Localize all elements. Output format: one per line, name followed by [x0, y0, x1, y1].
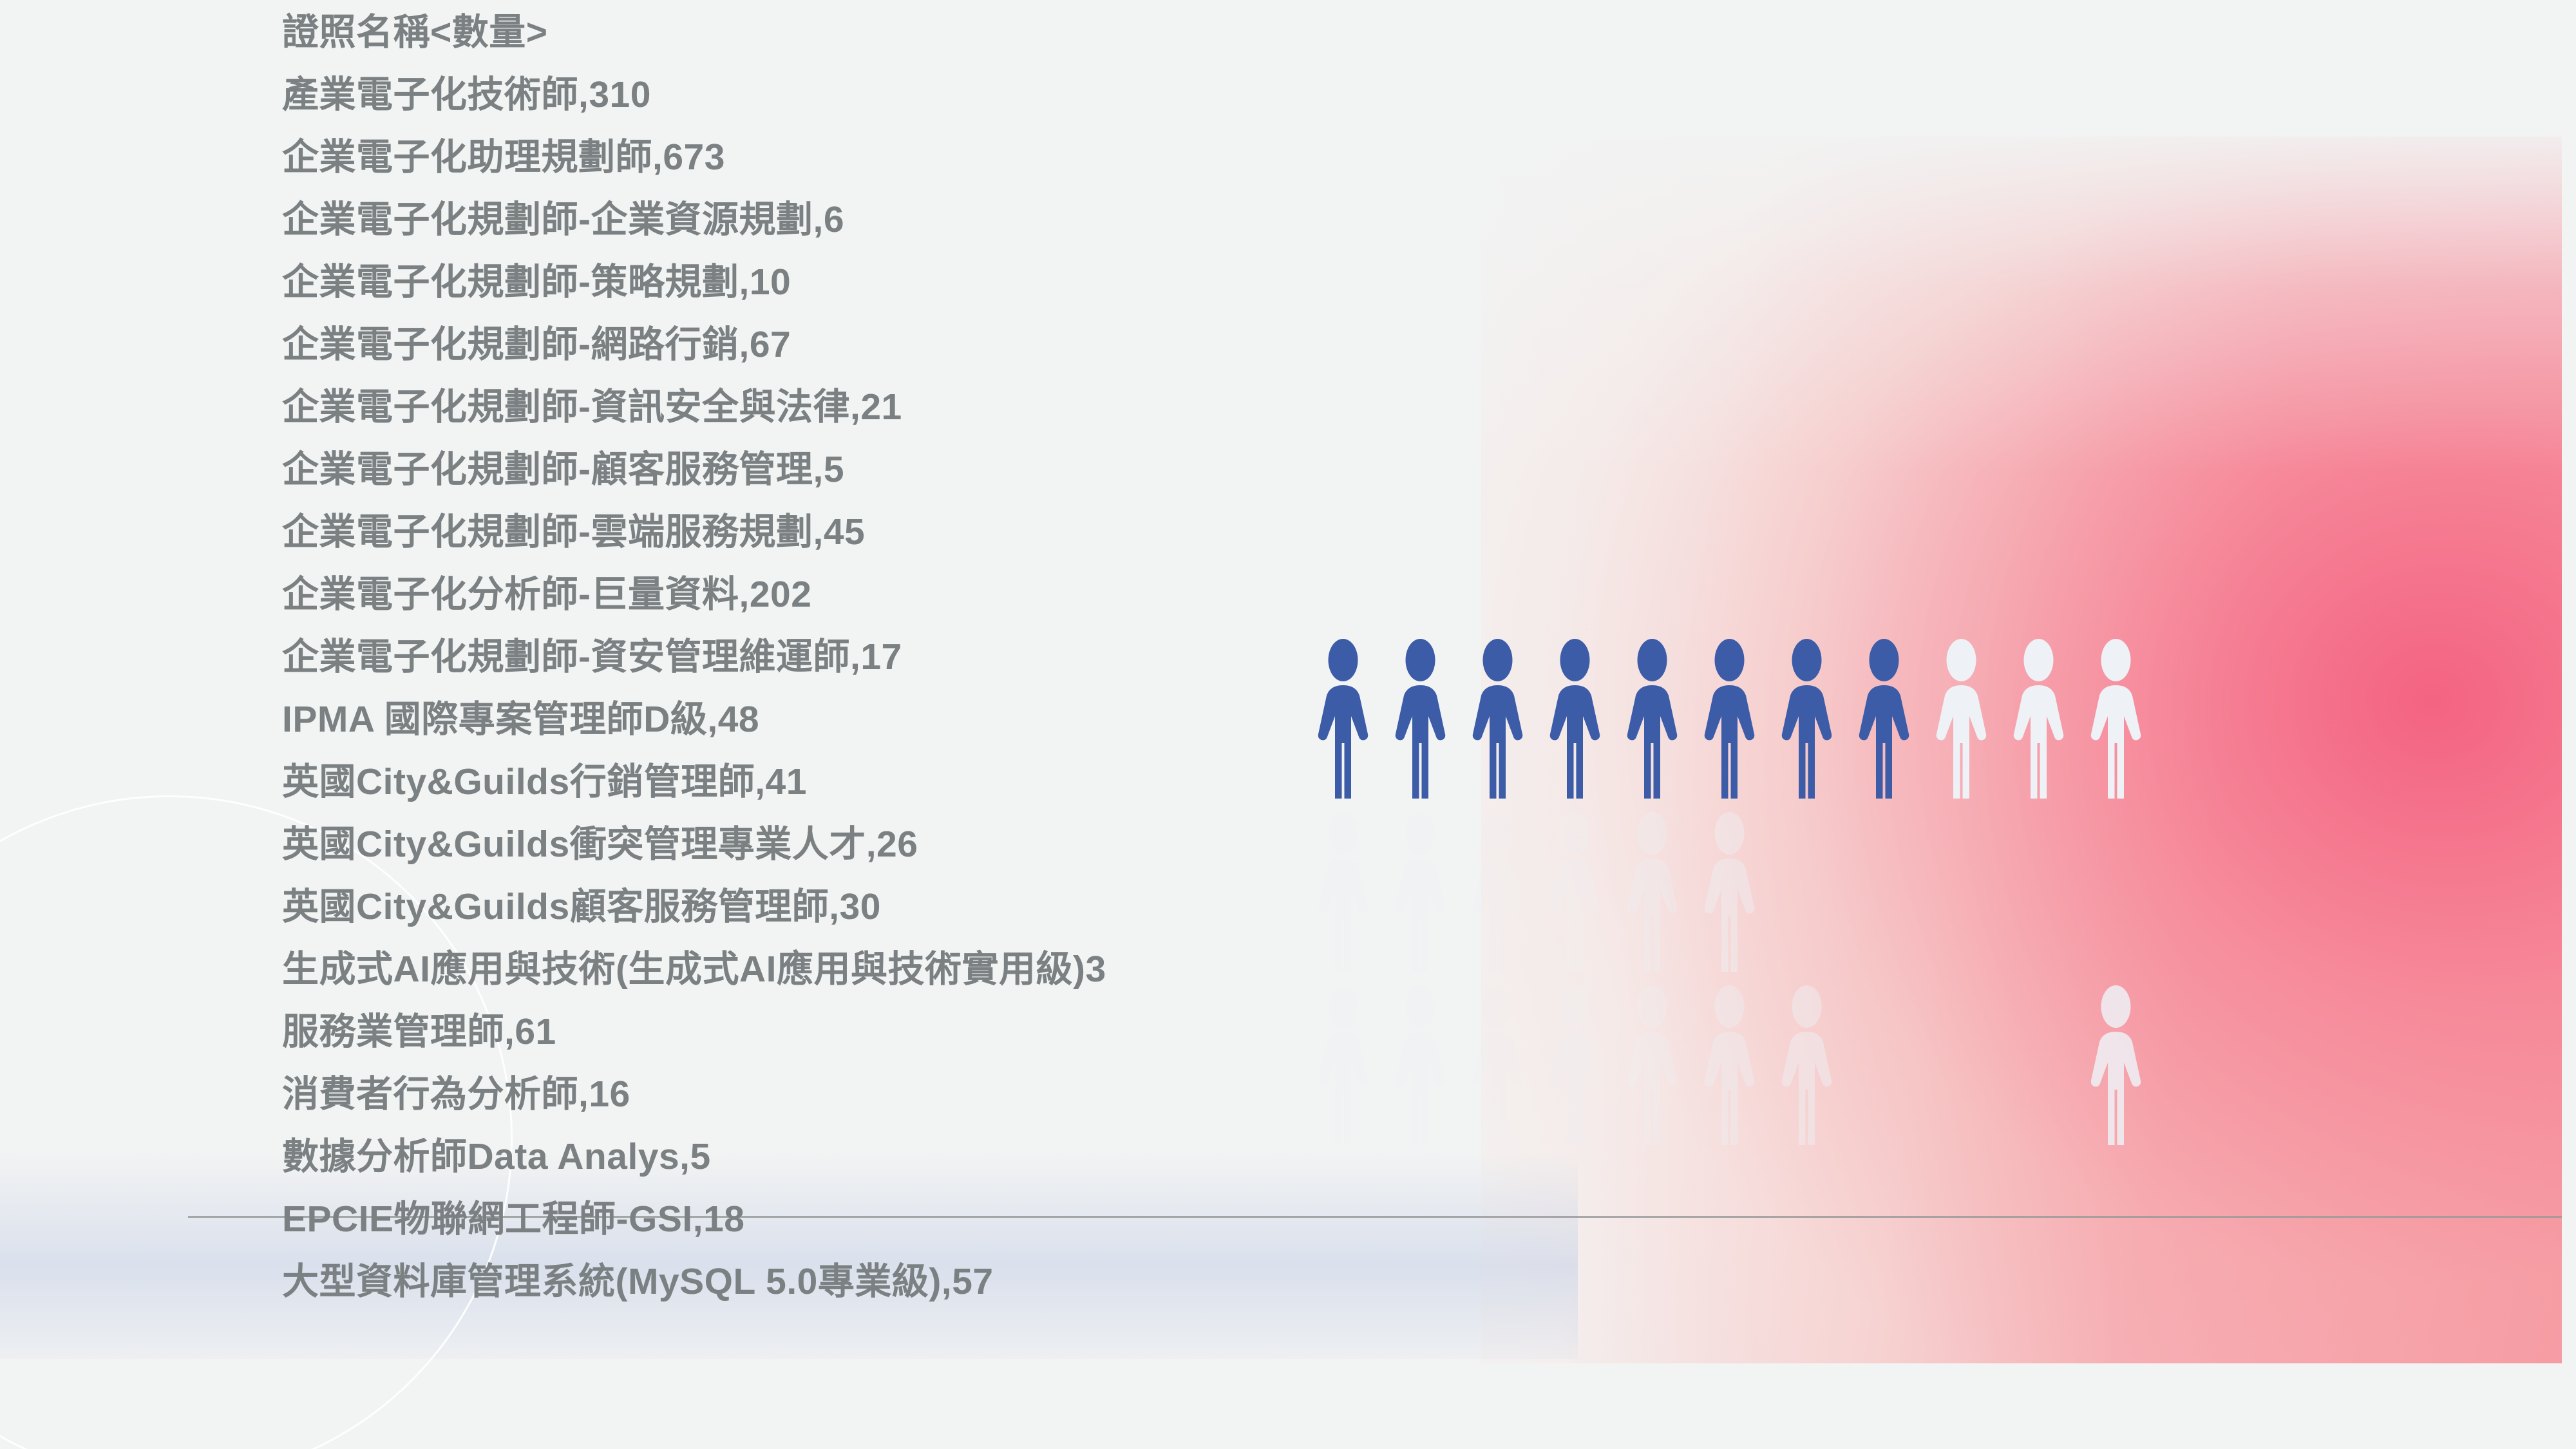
- list-item: 企業電子化規劃師-顧客服務管理,5: [282, 439, 1506, 501]
- pink-panel-top-fade: [1481, 137, 2562, 471]
- list-item: 企業電子化助理規劃師,673: [282, 126, 1506, 189]
- person-icon-empty: [1468, 811, 1527, 973]
- person-icon-empty: [1777, 984, 1836, 1146]
- list-item: 企業電子化規劃師-策略規劃,10: [282, 251, 1506, 314]
- list-item: 企業電子化規劃師-資訊安全與法律,21: [282, 376, 1506, 439]
- list-header: 證照名稱<數量>: [282, 1, 1506, 64]
- person-icon-filled: [1700, 638, 1759, 800]
- people-pictogram: [1314, 638, 2145, 1157]
- pictogram-row: [1314, 638, 2145, 800]
- list-item: 產業電子化技術師,310: [282, 64, 1506, 126]
- person-icon-filled: [1314, 638, 1372, 800]
- person-icon-filled: [1391, 638, 1450, 800]
- list-item: 企業電子化規劃師-雲端服務規劃,45: [282, 501, 1506, 563]
- person-icon-empty: [1700, 984, 1759, 1146]
- person-icon-empty: [1700, 811, 1759, 973]
- person-icon-filled: [1855, 638, 1913, 800]
- person-icon-empty: [1468, 984, 1527, 1146]
- person-icon-filled: [1777, 638, 1836, 800]
- person-icon-empty: [1314, 984, 1372, 1146]
- pictogram-row: [1314, 811, 2145, 973]
- list-item: 企業電子化規劃師-網路行銷,67: [282, 314, 1506, 376]
- person-icon-filled: [1468, 638, 1527, 800]
- person-icon-empty: [2009, 638, 2068, 800]
- person-icon-empty: [1932, 638, 1991, 800]
- slide-canvas: 證照名稱<數量> 產業電子化技術師,310企業電子化助理規劃師,673企業電子化…: [0, 0, 2576, 1449]
- person-icon-empty: [2087, 984, 2145, 1146]
- list-item: 企業電子化規劃師-企業資源規劃,6: [282, 189, 1506, 251]
- pictogram-row: [1314, 984, 2145, 1146]
- person-icon-empty: [1391, 811, 1450, 973]
- list-item: 大型資料庫管理系統(MySQL 5.0專業級),57: [282, 1251, 1506, 1313]
- person-icon-empty: [1546, 984, 1604, 1146]
- person-icon-filled: [1623, 638, 1681, 800]
- person-icon-empty: [1546, 811, 1604, 973]
- person-icon-empty: [1623, 984, 1681, 1146]
- list-item: EPCIE物聯網工程師-GSI,18: [282, 1188, 1506, 1251]
- person-icon-empty: [2087, 638, 2145, 800]
- person-icon-empty: [1391, 984, 1450, 1146]
- person-icon-empty: [1623, 811, 1681, 973]
- person-icon-empty: [1314, 811, 1372, 973]
- person-icon-filled: [1546, 638, 1604, 800]
- list-item: 企業電子化分析師-巨量資料,202: [282, 563, 1506, 626]
